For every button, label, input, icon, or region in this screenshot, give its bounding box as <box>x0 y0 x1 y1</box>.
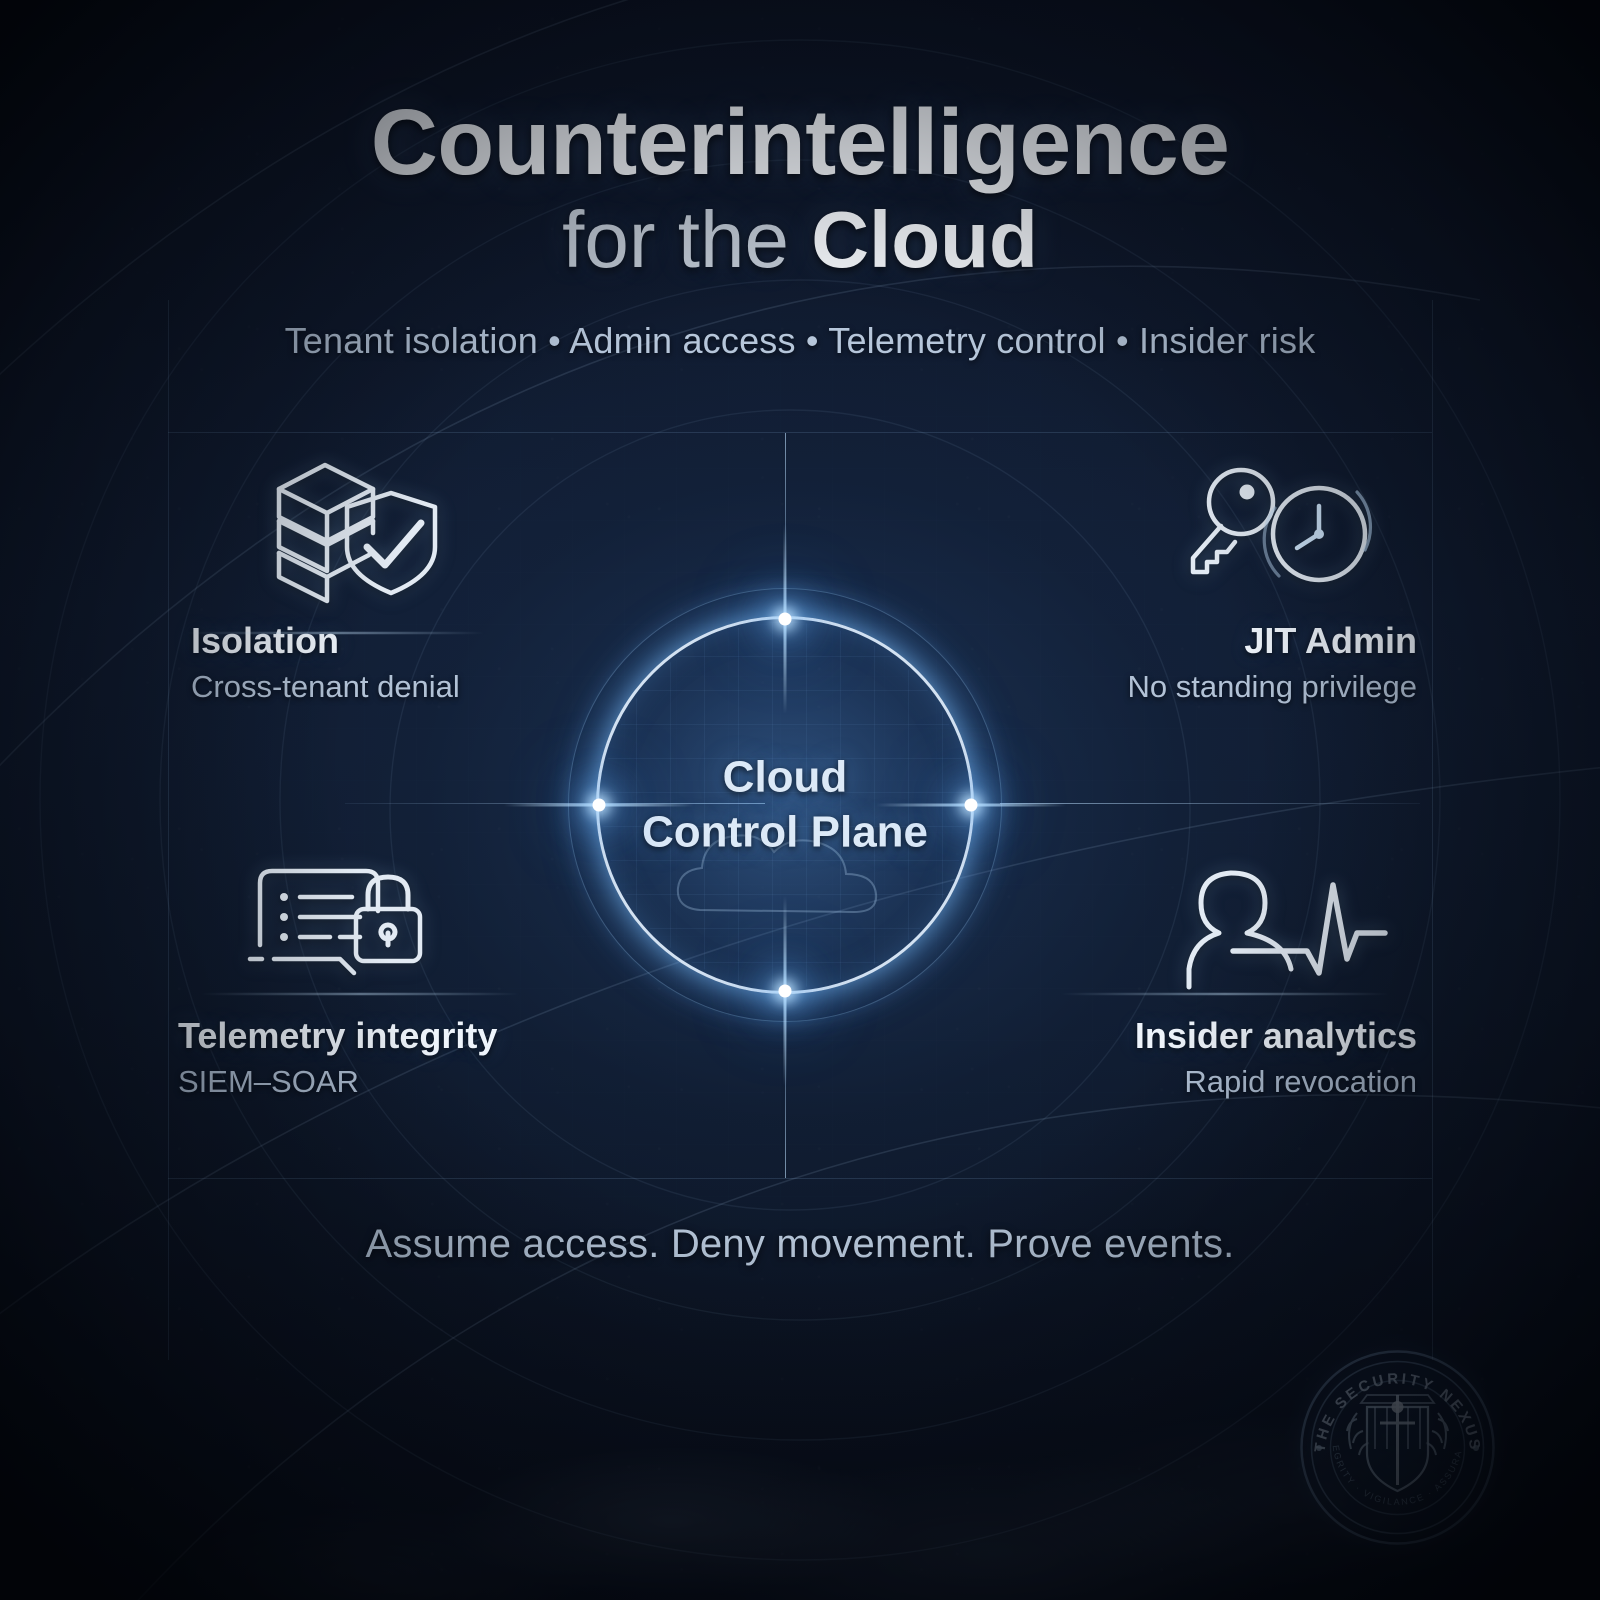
quadrant-subtitle: Cross-tenant denial <box>165 669 595 705</box>
hub-main-ring <box>596 616 974 994</box>
stack-shield-check-icon <box>165 450 595 620</box>
quadrant-insider-analytics[interactable]: Insider analytics Rapid revocation <box>1005 845 1435 1100</box>
hub-node-right <box>965 799 978 812</box>
page-subtitle-title: for the Cloud <box>0 198 1600 282</box>
quadrant-telemetry-integrity[interactable]: Telemetry integrity SIEM–SOAR <box>152 845 582 1100</box>
quadrant-title: Telemetry integrity <box>152 1015 582 1057</box>
connector-right <box>1000 803 1420 804</box>
quadrant-title: Isolation <box>165 620 595 662</box>
infographic-poster: Counterintelligence for the Cloud Tenant… <box>0 0 1600 1600</box>
key-clock-icon <box>1005 450 1435 620</box>
poster-header: Counterintelligence for the Cloud Tenant… <box>0 96 1600 362</box>
cloud-control-plane-hub: Cloud Control Plane <box>525 545 1045 1065</box>
quadrant-subtitle: SIEM–SOAR <box>152 1064 582 1100</box>
title-light-part: for the <box>562 195 811 284</box>
hub-node-top <box>779 613 792 626</box>
header-topic-list: Tenant isolation • Admin access • Teleme… <box>0 320 1600 362</box>
log-panel-lock-icon <box>152 845 582 1015</box>
frame-line-top <box>168 432 1432 433</box>
quadrant-title: Insider analytics <box>1005 1015 1435 1057</box>
quadrant-subtitle: No standing privilege <box>1005 669 1435 705</box>
person-pulse-icon <box>1005 845 1435 1015</box>
hub-node-bottom <box>779 985 792 998</box>
quadrant-subtitle: Rapid revocation <box>1005 1064 1435 1100</box>
hub-node-left <box>593 799 606 812</box>
quadrant-jit-admin[interactable]: JIT Admin No standing privilege <box>1005 450 1435 705</box>
footer-tagline: Assume access. Deny movement. Prove even… <box>0 1222 1600 1267</box>
quadrant-title: JIT Admin <box>1005 620 1435 662</box>
title-strong-part: Cloud <box>811 195 1038 284</box>
the-security-nexus-seal: THE SECURITY NEXUS INTEGRITY · VIGILANCE… <box>1295 1345 1500 1550</box>
page-title: Counterintelligence <box>0 96 1600 189</box>
frame-line-bottom <box>168 1178 1432 1179</box>
quadrant-isolation[interactable]: Isolation Cross-tenant denial <box>165 450 595 705</box>
